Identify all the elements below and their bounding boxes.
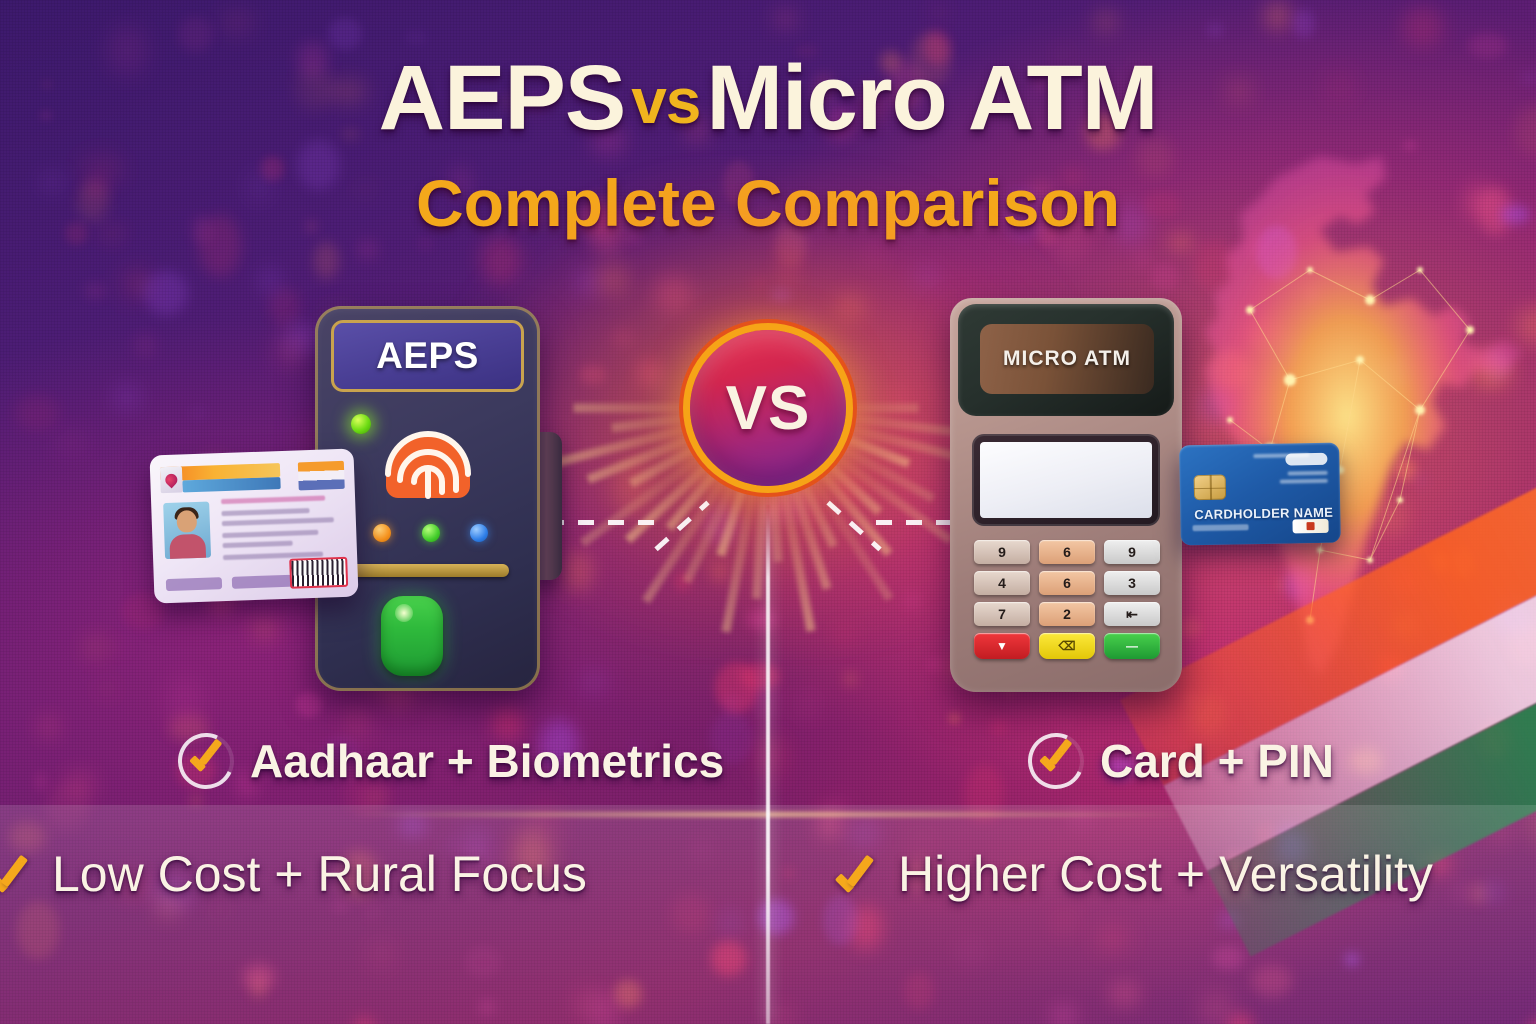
- bokeh-dot: [903, 711, 914, 720]
- title-right-term: Micro ATM: [706, 47, 1157, 149]
- keypad-key[interactable]: 6: [1039, 540, 1095, 564]
- bokeh-dot: [1256, 822, 1275, 847]
- aeps-power-led: [351, 414, 371, 434]
- circle-check-icon: [1028, 733, 1084, 789]
- bokeh-dot: [252, 621, 278, 638]
- bokeh-dot: [190, 796, 203, 804]
- bokeh-dot: [405, 31, 427, 45]
- bokeh-dot: [972, 694, 986, 705]
- bokeh-dot: [1493, 826, 1511, 839]
- bokeh-dot: [131, 270, 150, 296]
- bokeh-dot: [614, 980, 642, 1008]
- bokeh-dot: [886, 392, 908, 406]
- bokeh-dot: [1470, 352, 1512, 388]
- bokeh-dot: [949, 713, 960, 724]
- check-icon: [0, 858, 36, 890]
- keypad-key[interactable]: 7: [974, 602, 1030, 626]
- bokeh-dot: [1275, 580, 1289, 590]
- bokeh-dot: [1480, 721, 1510, 759]
- bokeh-dot: [480, 235, 520, 283]
- bank-card-network-logo-icon: [1292, 519, 1328, 534]
- feature-microatm-primary-label: Card + PIN: [1100, 734, 1334, 788]
- aadhaar-photo: [163, 502, 211, 560]
- bokeh-dot: [1407, 338, 1451, 396]
- bokeh-dot: [849, 905, 883, 950]
- connector-dash-diagonal-right: [826, 501, 881, 552]
- bokeh-dot: [37, 716, 61, 737]
- title-left-term: AEPS: [379, 47, 626, 149]
- bokeh-dot: [362, 788, 389, 806]
- feature-microatm-primary: Card + PIN: [1028, 733, 1334, 789]
- bokeh-dot: [1136, 254, 1148, 265]
- bokeh-dot: [465, 946, 501, 978]
- status-led-green: [422, 524, 440, 542]
- bokeh-dot: [1201, 991, 1233, 1024]
- keypad-key[interactable]: —: [1104, 633, 1160, 659]
- micro-atm-device-screen: MICRO ATM: [980, 324, 1154, 394]
- bokeh-dot: [991, 720, 1006, 734]
- status-led-orange: [373, 524, 391, 542]
- micro-atm-top-shell: MICRO ATM: [958, 304, 1174, 416]
- bokeh-dot: [1285, 567, 1315, 600]
- bokeh-dot: [1383, 354, 1408, 391]
- bank-card-number: [1193, 524, 1249, 531]
- bokeh-dot: [15, 395, 59, 431]
- bokeh-dot: [333, 902, 347, 911]
- bokeh-dot: [826, 796, 852, 815]
- status-led-blue: [470, 524, 488, 542]
- bokeh-dot: [693, 838, 710, 862]
- bokeh-dot: [276, 331, 305, 369]
- aadhaar-text-line: [222, 517, 334, 526]
- bokeh-dot: [17, 901, 59, 959]
- bokeh-dot: [99, 681, 114, 697]
- bokeh-dot: [1526, 1019, 1536, 1024]
- aadhaar-emblem-icon: [160, 466, 183, 493]
- keypad-key[interactable]: ⌫: [1039, 633, 1095, 659]
- bokeh-dot: [1305, 286, 1319, 304]
- bokeh-dot: [675, 572, 691, 591]
- bokeh-dot: [715, 662, 758, 712]
- bokeh-dot: [34, 772, 47, 791]
- feature-aeps-primary-label: Aadhaar + Biometrics: [250, 734, 724, 788]
- bokeh-dot: [1293, 9, 1315, 38]
- barcode-icon: [289, 557, 348, 589]
- micro-atm-keypad[interactable]: 96946372⇤▼⌫—: [974, 540, 1160, 666]
- aeps-scan-button[interactable]: [381, 596, 443, 676]
- bokeh-dot: [1479, 880, 1505, 904]
- bokeh-dot: [964, 765, 1004, 822]
- aadhaar-flag-icon: [298, 461, 345, 491]
- keypad-key[interactable]: ▼: [974, 633, 1030, 659]
- keypad-row: 72⇤: [974, 602, 1160, 626]
- page-title: AEPSvsMicro ATM: [0, 52, 1536, 144]
- bokeh-dot: [805, 311, 816, 320]
- bokeh-dot: [64, 772, 95, 799]
- bokeh-dot: [1180, 618, 1200, 637]
- bokeh-dot: [702, 504, 739, 545]
- bokeh-dot: [1507, 620, 1536, 668]
- bokeh-dot: [1238, 364, 1271, 413]
- bokeh-dot: [637, 360, 663, 386]
- bokeh-dot: [1227, 1013, 1254, 1024]
- bokeh-dot: [188, 406, 208, 421]
- bokeh-dot: [1212, 946, 1244, 970]
- keypad-row: 969: [974, 540, 1160, 564]
- bokeh-dot: [165, 675, 204, 729]
- bokeh-dot: [671, 894, 711, 934]
- bokeh-dot: [575, 269, 599, 295]
- bokeh-dot: [1076, 808, 1089, 826]
- bokeh-dot: [1523, 675, 1535, 693]
- bokeh-dot: [1211, 351, 1250, 389]
- bokeh-dot: [579, 365, 606, 384]
- bokeh-dot: [1194, 240, 1235, 290]
- center-divider: [766, 505, 770, 1024]
- bokeh-dot: [581, 672, 608, 692]
- bokeh-dot: [261, 268, 279, 294]
- bokeh-dot: [1184, 691, 1197, 707]
- vs-badge-label: VS: [726, 373, 811, 444]
- bokeh-dot: [1394, 615, 1416, 637]
- aadhaar-text-line: [221, 508, 309, 516]
- bokeh-dot: [45, 783, 89, 832]
- bokeh-dot: [114, 385, 141, 411]
- bokeh-dot: [112, 641, 131, 654]
- bokeh-dot: [776, 270, 796, 289]
- bank-card-blur-line: [1280, 479, 1328, 484]
- bokeh-dot: [1207, 23, 1223, 37]
- keypad-row: 463: [974, 571, 1160, 595]
- bokeh-dot: [926, 391, 936, 398]
- aadhaar-text-line: [221, 496, 325, 505]
- bokeh-dot: [771, 288, 791, 304]
- bokeh-dot: [1097, 11, 1116, 33]
- bokeh-dot: [782, 868, 795, 878]
- bokeh-dot: [961, 940, 981, 963]
- bokeh-dot: [398, 814, 427, 837]
- bokeh-dot: [1395, 458, 1415, 481]
- bokeh-dot: [907, 593, 918, 609]
- bokeh-dot: [596, 261, 628, 296]
- bokeh-dot: [116, 266, 156, 305]
- bokeh-dot: [569, 985, 608, 1019]
- bokeh-dot: [1051, 911, 1078, 934]
- bokeh-dot: [1345, 953, 1359, 967]
- bokeh-dot: [775, 9, 796, 29]
- bokeh-dot: [1264, 1, 1291, 30]
- bokeh-dot: [296, 692, 322, 717]
- bokeh-dot: [178, 17, 213, 52]
- keypad-key[interactable]: 4: [974, 571, 1030, 595]
- fingerprint-icon: [378, 402, 478, 510]
- bokeh-dot: [479, 999, 494, 1015]
- connector-dash-diagonal-left: [654, 501, 709, 552]
- aeps-device-screen: AEPS: [331, 320, 524, 392]
- bokeh-dot: [750, 274, 767, 292]
- bokeh-dot: [794, 687, 823, 721]
- bokeh-dot: [1168, 234, 1193, 250]
- bokeh-dot: [269, 288, 300, 325]
- bokeh-dot: [845, 672, 856, 686]
- photo-head: [176, 510, 197, 533]
- keypad-key[interactable]: 9: [1104, 540, 1160, 564]
- micro-atm-display: [980, 442, 1152, 518]
- page-subtitle: Complete Comparison: [0, 170, 1536, 236]
- infographic-canvas: AEPSvsMicro ATM Complete Comparison VS A…: [0, 0, 1536, 1024]
- bokeh-dot: [740, 663, 780, 689]
- aadhaar-text-line: [223, 541, 293, 548]
- bokeh-dot: [927, 658, 944, 671]
- bokeh-dot: [1246, 237, 1267, 258]
- bokeh-dot: [1243, 318, 1285, 347]
- bank-card: CARDHOLDER NAME: [1179, 443, 1341, 546]
- bokeh-dot: [243, 964, 275, 990]
- bokeh-dot: [1284, 567, 1312, 589]
- bokeh-dot: [654, 275, 692, 312]
- bokeh-dot: [904, 972, 934, 1010]
- bokeh-dot: [1517, 307, 1536, 344]
- photo-body: [169, 534, 206, 559]
- bokeh-dot: [1279, 337, 1301, 368]
- feature-aeps-primary: Aadhaar + Biometrics: [178, 733, 724, 789]
- bokeh-dot: [1056, 711, 1070, 726]
- bokeh-dot: [788, 489, 828, 523]
- bokeh-dot: [773, 238, 805, 285]
- keypad-key[interactable]: 9: [974, 540, 1030, 564]
- bank-card-blur-line: [1288, 471, 1328, 476]
- bokeh-dot: [419, 239, 433, 249]
- keypad-key[interactable]: ⇤: [1104, 602, 1160, 626]
- bokeh-dot: [328, 18, 362, 50]
- keypad-key[interactable]: 3: [1104, 571, 1160, 595]
- bokeh-dot: [223, 13, 253, 32]
- micro-atm-device-screen-label: MICRO ATM: [1003, 347, 1131, 371]
- bokeh-dot: [1392, 567, 1419, 594]
- micro-atm-device: MICRO ATM 96946372⇤▼⌫—: [950, 298, 1182, 692]
- bokeh-dot: [933, 6, 944, 18]
- bokeh-dot: [369, 938, 393, 970]
- title-vs-word: vs: [631, 65, 700, 137]
- bokeh-dot: [134, 333, 157, 357]
- bokeh-dot: [1053, 1006, 1073, 1024]
- feature-aeps-secondary-label: Low Cost + Rural Focus: [52, 845, 587, 903]
- bokeh-dot: [1526, 799, 1536, 847]
- aadhaar-footer-pill: [166, 577, 222, 591]
- aeps-gold-bar: [343, 564, 509, 577]
- bokeh-dot: [366, 907, 379, 919]
- circle-check-icon: [178, 733, 234, 789]
- aadhaar-card: [149, 448, 358, 603]
- bokeh-dot: [212, 901, 227, 918]
- bokeh-dot: [1108, 980, 1141, 1008]
- bokeh-dot: [528, 806, 561, 830]
- bokeh-dot: [777, 315, 798, 333]
- bokeh-dot: [758, 899, 793, 935]
- bokeh-dot: [1402, 6, 1442, 48]
- bokeh-dot: [1454, 887, 1472, 899]
- bokeh-dot: [354, 1017, 375, 1024]
- bokeh-dot: [913, 268, 939, 285]
- bokeh-dot: [725, 696, 738, 710]
- bokeh-dot: [1220, 913, 1238, 928]
- bokeh-dot: [359, 241, 376, 258]
- aadhaar-text-line: [222, 530, 318, 538]
- bokeh-dot: [841, 477, 857, 500]
- bokeh-dot: [1485, 352, 1508, 380]
- bokeh-dot: [1098, 928, 1128, 950]
- bokeh-dot: [1492, 598, 1535, 636]
- bokeh-dot: [54, 431, 88, 455]
- bokeh-dot: [1378, 654, 1404, 681]
- feature-aeps-secondary: Low Cost + Rural Focus: [0, 845, 587, 903]
- bokeh-dot: [611, 328, 634, 346]
- keypad-row: ▼⌫—: [974, 633, 1160, 659]
- bokeh-dot: [711, 941, 746, 976]
- bokeh-dot: [747, 609, 777, 631]
- bokeh-dot: [712, 563, 728, 583]
- bokeh-dot: [753, 738, 788, 783]
- micro-atm-display-frame: [972, 434, 1160, 526]
- bokeh-dot: [613, 459, 651, 515]
- bokeh-dot: [589, 992, 621, 1024]
- ribbon-white-stripe: [1164, 495, 1536, 871]
- feature-microatm-secondary-label: Higher Cost + Versatility: [898, 845, 1433, 903]
- keypad-key[interactable]: 6: [1039, 571, 1095, 595]
- bokeh-dot: [1252, 965, 1292, 997]
- check-icon: [838, 858, 882, 890]
- bokeh-dot: [563, 551, 592, 592]
- bokeh-dot: [835, 623, 856, 646]
- aeps-status-leds: [373, 524, 488, 542]
- aeps-device-screen-label: AEPS: [376, 335, 479, 377]
- bokeh-dot: [1433, 552, 1450, 572]
- aadhaar-footer-pill: [232, 575, 292, 589]
- feature-microatm-secondary: Higher Cost + Versatility: [838, 845, 1433, 903]
- bokeh-dot: [1192, 694, 1224, 735]
- aadhaar-header-bar-secondary: [182, 477, 280, 492]
- bokeh-dot: [86, 639, 105, 657]
- bokeh-dot: [1415, 473, 1426, 485]
- bokeh-dot: [772, 1007, 793, 1024]
- bokeh-dot: [748, 677, 775, 716]
- keypad-key[interactable]: 2: [1039, 602, 1095, 626]
- bokeh-dot: [314, 242, 339, 280]
- bokeh-dot: [84, 283, 106, 299]
- bokeh-dot: [848, 818, 880, 848]
- bokeh-dot: [835, 294, 865, 321]
- bokeh-dot: [1151, 263, 1178, 290]
- emv-chip-icon: [1194, 475, 1226, 501]
- bokeh-dot: [758, 737, 785, 764]
- bokeh-dot: [144, 271, 188, 316]
- connector-dash-left: [548, 520, 660, 525]
- vs-badge: VS: [690, 330, 846, 486]
- bokeh-dot: [819, 809, 840, 838]
- bokeh-dot: [1471, 883, 1487, 904]
- bokeh-dot: [558, 834, 569, 843]
- bokeh-dot: [1375, 495, 1407, 535]
- bokeh-dot: [251, 977, 266, 999]
- bokeh-dot: [1528, 498, 1536, 521]
- bokeh-dot: [1452, 548, 1473, 579]
- bokeh-dot: [1349, 748, 1383, 774]
- bokeh-dot: [864, 245, 885, 263]
- bokeh-dot: [715, 907, 744, 937]
- bokeh-dot: [1199, 387, 1235, 423]
